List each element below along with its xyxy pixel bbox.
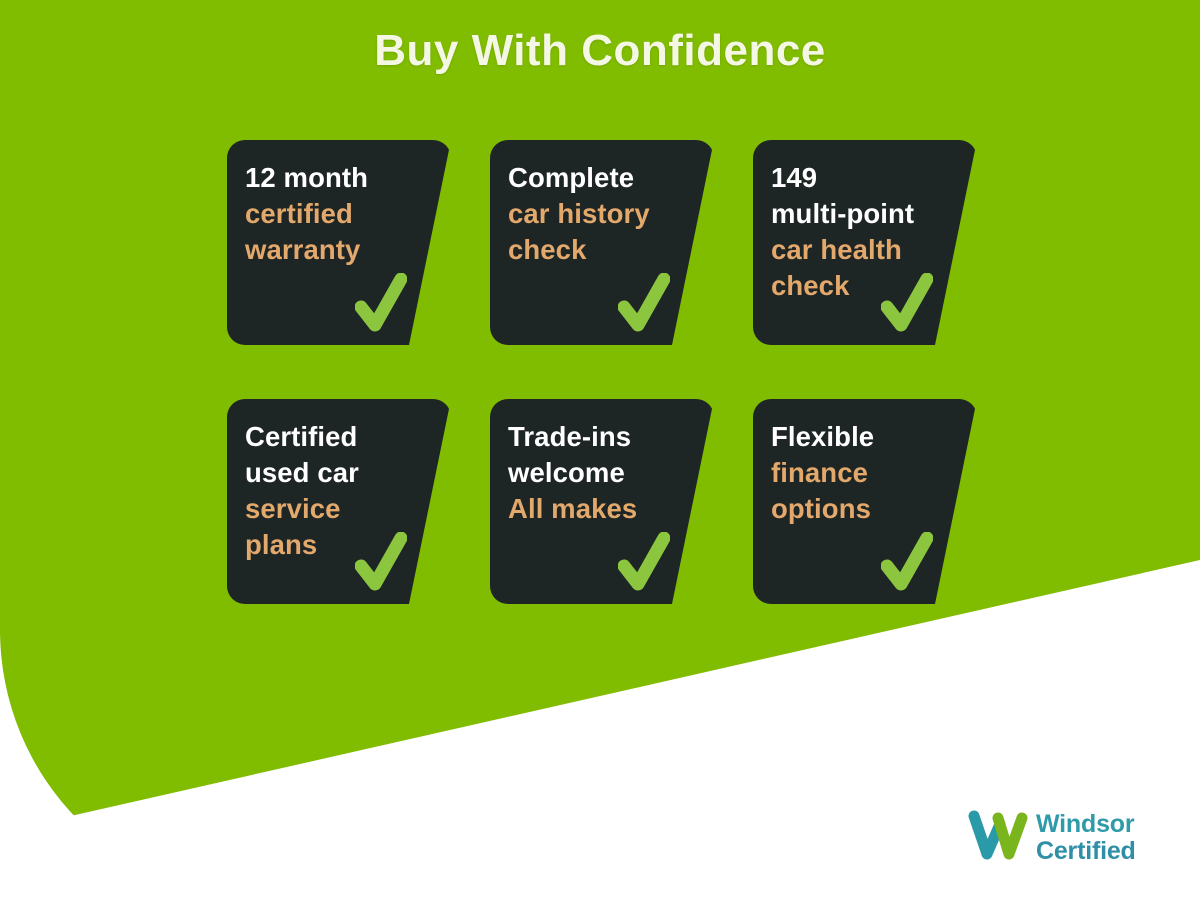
poster-canvas: Buy With Confidence 12 monthcertifiedwar… bbox=[0, 0, 1200, 900]
feature-card-finance-options[interactable]: Flexiblefinanceoptions bbox=[753, 399, 977, 604]
feature-card-car-health-check[interactable]: 149multi-pointcar healthcheck bbox=[753, 140, 977, 345]
green-check-icon bbox=[355, 273, 407, 335]
page-title: Buy With Confidence bbox=[0, 26, 1200, 76]
windsor-certified-logo: Windsor Certified bbox=[968, 810, 1136, 866]
feature-card-certified-warranty[interactable]: 12 monthcertifiedwarranty bbox=[227, 140, 451, 345]
feature-card-line: multi-point bbox=[771, 196, 965, 232]
green-check-icon bbox=[618, 532, 670, 594]
logo-wordmark: Windsor Certified bbox=[1036, 811, 1136, 865]
feature-card-line: options bbox=[771, 491, 965, 527]
feature-card-line: car health bbox=[771, 232, 965, 268]
feature-card-line: Certified bbox=[245, 419, 439, 455]
feature-card-row: Certifiedused carserviceplansTrade-inswe… bbox=[227, 399, 977, 604]
feature-card-service-plans[interactable]: Certifiedused carserviceplans bbox=[227, 399, 451, 604]
green-check-icon bbox=[881, 273, 933, 335]
feature-card-line: finance bbox=[771, 455, 965, 491]
feature-card-grid: 12 monthcertifiedwarrantyCompletecar his… bbox=[227, 140, 977, 604]
feature-card-line: Flexible bbox=[771, 419, 965, 455]
feature-card-line: plans bbox=[245, 527, 439, 563]
feature-card-line: Complete bbox=[508, 160, 702, 196]
feature-card-line: check bbox=[771, 268, 965, 304]
feature-card-line: check bbox=[508, 232, 702, 268]
feature-card-line: Trade-ins bbox=[508, 419, 702, 455]
feature-card-line: certified bbox=[245, 196, 439, 232]
feature-card-line: used car bbox=[245, 455, 439, 491]
logo-line-windsor: Windsor bbox=[1036, 811, 1136, 838]
green-check-icon bbox=[618, 273, 670, 335]
feature-card-car-history-check[interactable]: Completecar historycheck bbox=[490, 140, 714, 345]
green-check-icon bbox=[881, 532, 933, 594]
feature-card-trade-ins[interactable]: Trade-inswelcomeAll makes bbox=[490, 399, 714, 604]
feature-card-line: car history bbox=[508, 196, 702, 232]
feature-card-row: 12 monthcertifiedwarrantyCompletecar his… bbox=[227, 140, 977, 345]
feature-card-line: All makes bbox=[508, 491, 702, 527]
feature-card-line: 12 month bbox=[245, 160, 439, 196]
feature-card-line: welcome bbox=[508, 455, 702, 491]
windsor-w-icon bbox=[968, 810, 1030, 866]
feature-card-line: 149 bbox=[771, 160, 965, 196]
logo-line-certified: Certified bbox=[1036, 838, 1136, 865]
feature-card-line: service bbox=[245, 491, 439, 527]
feature-card-line: warranty bbox=[245, 232, 439, 268]
green-check-icon bbox=[355, 532, 407, 594]
